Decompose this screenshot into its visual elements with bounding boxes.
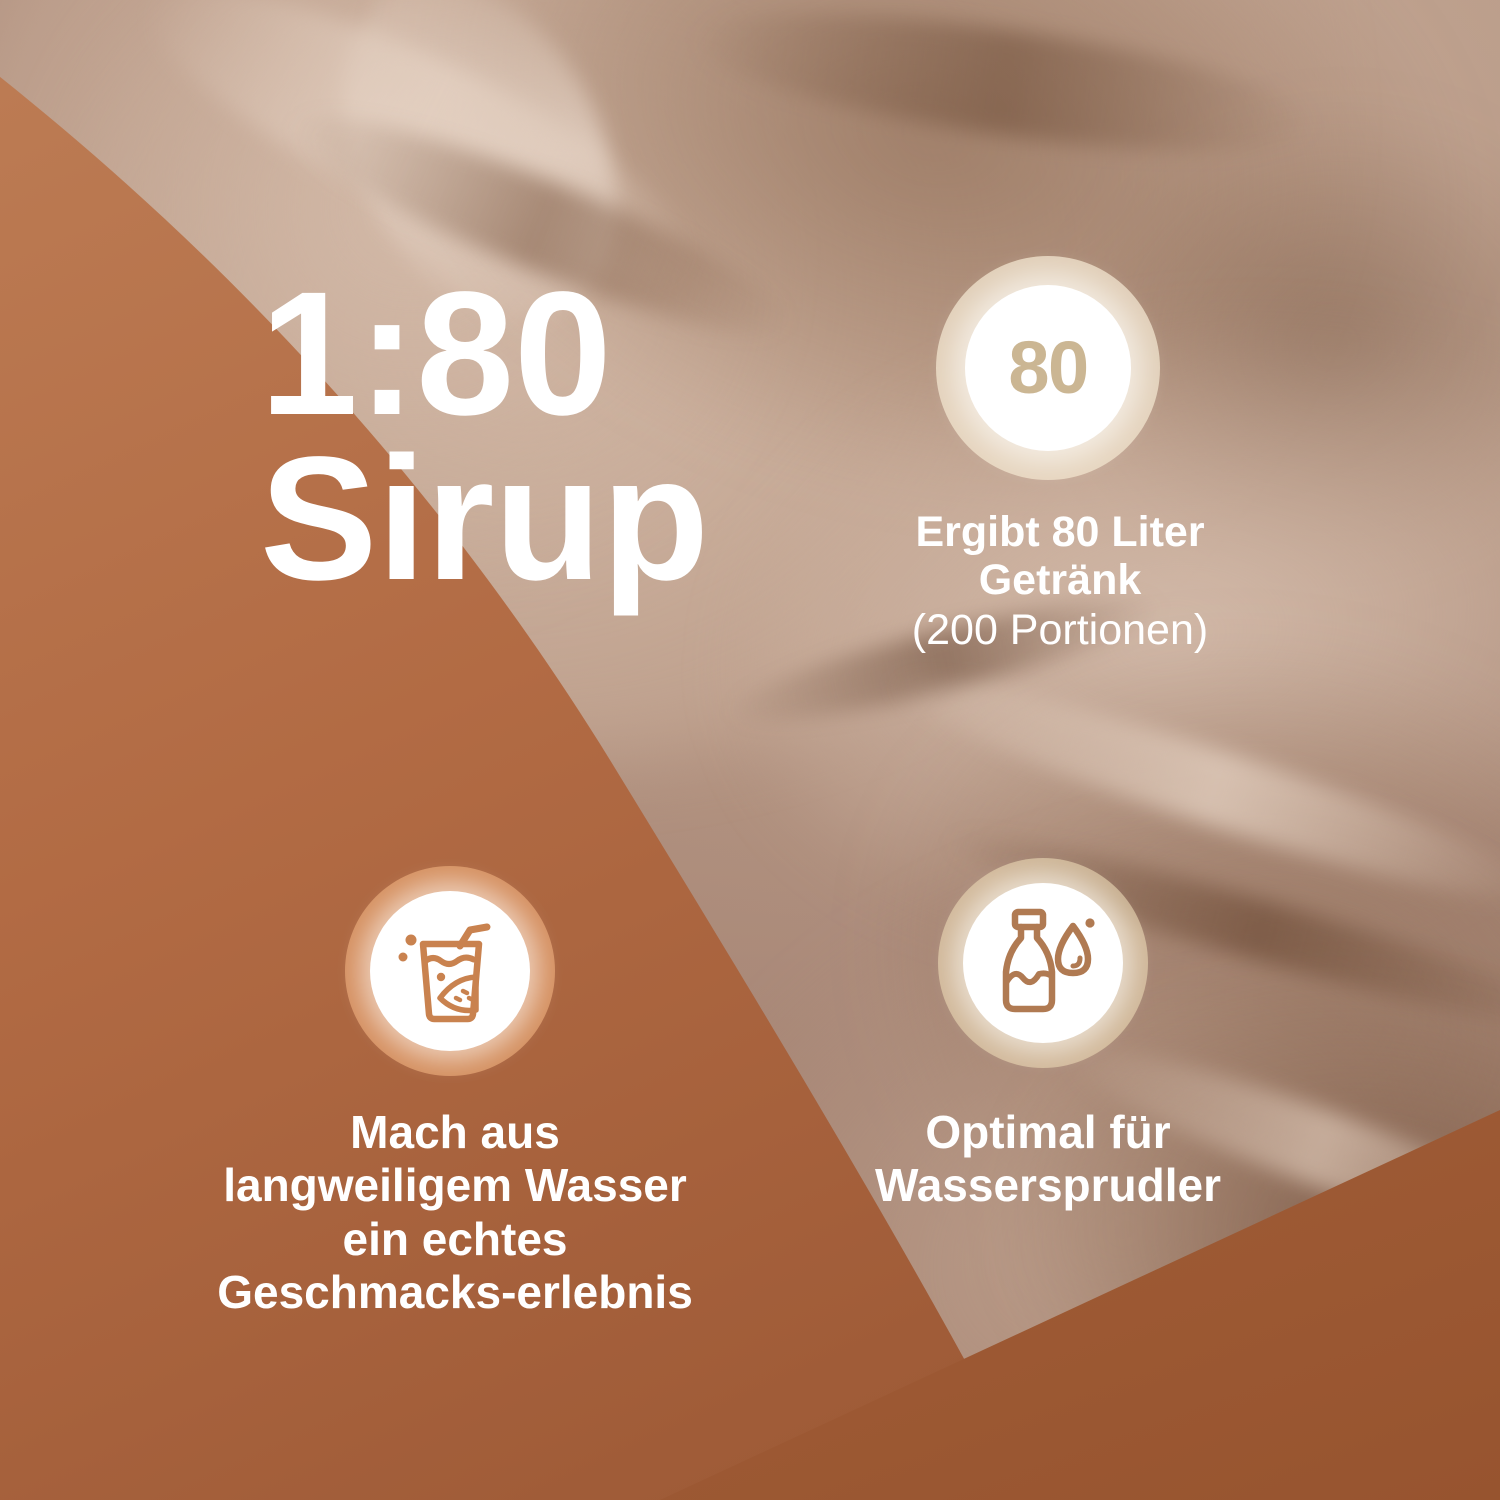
yield-subtitle: (200 Portionen) xyxy=(830,606,1290,654)
poster-content: 1:80 Sirup 80 Ergibt 80 Liter Getränk (2… xyxy=(0,0,1500,1500)
headline-word: Sirup xyxy=(260,437,900,602)
yield-feature-text: Ergibt 80 Liter Getränk (200 Portionen) xyxy=(830,508,1290,654)
sparkling-water-feature-caption: Optimal für Wassersprudler xyxy=(818,1106,1278,1213)
page-title: 1:80 Sirup xyxy=(260,272,900,603)
taste-feature-caption: Mach aus langweiligem Wasser ein echtes … xyxy=(200,1106,710,1319)
icon-disc xyxy=(963,883,1123,1043)
yield-title-line2: Getränk xyxy=(830,556,1290,604)
headline-ratio: 1:80 xyxy=(260,272,900,437)
yield-badge-disc: 80 xyxy=(965,285,1131,451)
taste-feature-icon-circle xyxy=(345,866,555,1076)
product-feature-poster: 1:80 Sirup 80 Ergibt 80 Liter Getränk (2… xyxy=(0,0,1500,1500)
yield-title-line1: Ergibt 80 Liter xyxy=(830,508,1290,556)
sparkling-water-feature-icon-circle xyxy=(938,858,1148,1068)
yield-badge: 80 xyxy=(936,256,1160,480)
yield-badge-number: 80 xyxy=(1008,331,1087,405)
icon-disc xyxy=(370,891,530,1051)
drink-glass-with-straw-icon xyxy=(397,914,503,1029)
bottle-with-water-drop-icon xyxy=(989,906,1097,1021)
